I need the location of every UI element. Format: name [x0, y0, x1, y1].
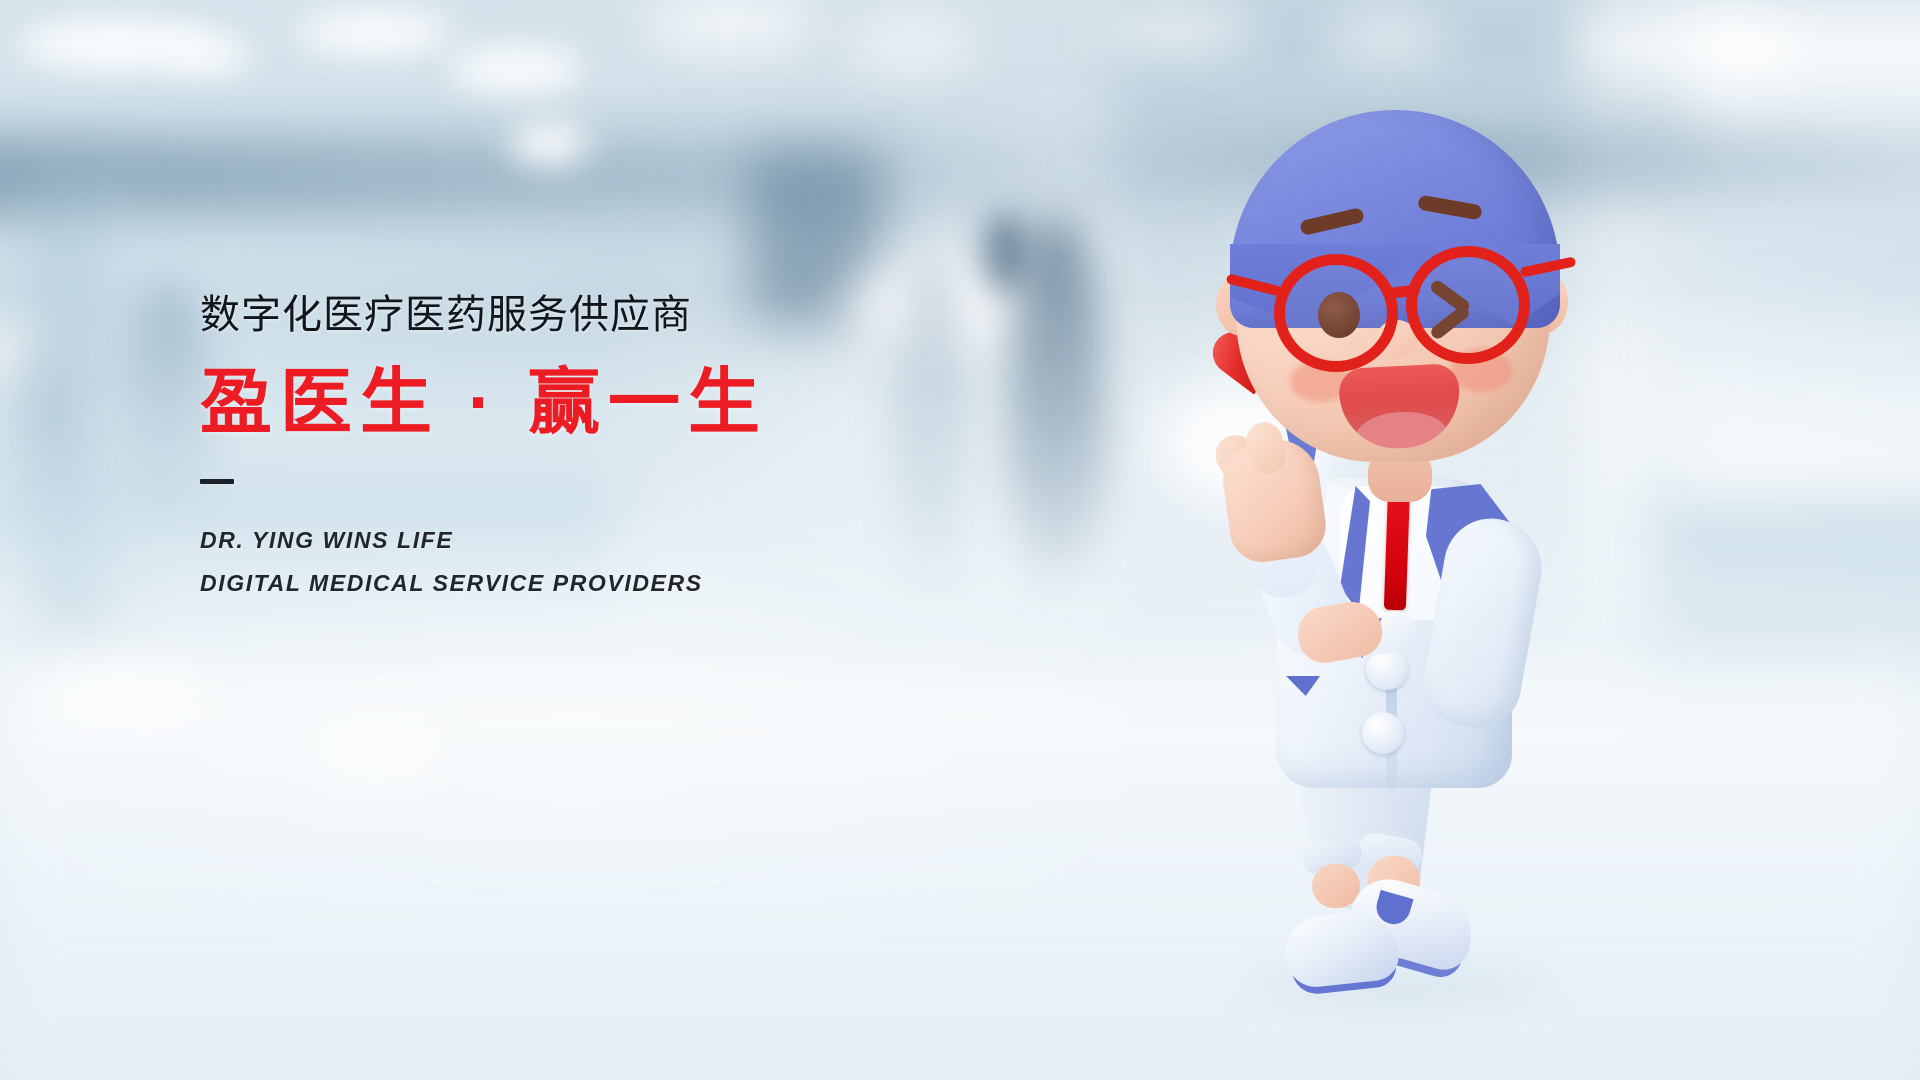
background-window-shelf — [1690, 11, 1920, 508]
title-divider-rule — [200, 479, 234, 484]
ceiling-light-bokeh — [298, 13, 452, 52]
background-person-silhouette — [125, 281, 211, 519]
ceiling-light-bokeh — [451, 49, 582, 90]
mascot-coat-button-bottom — [1362, 712, 1404, 754]
ceiling-light-bokeh — [307, 734, 441, 777]
banner-copy-block: 数字化医疗医药服务供应商 盈医生 · 赢一生 DR. YING WINS LIF… — [200, 292, 960, 603]
background-person-silhouette — [10, 324, 75, 518]
glasses-lens-left — [1274, 254, 1398, 372]
glasses-lens-right — [1406, 246, 1530, 364]
background-person-head — [983, 211, 1027, 292]
mascot-mouth — [1338, 363, 1462, 451]
ceiling-light-bokeh — [845, 27, 979, 62]
background-floor — [0, 670, 1920, 1080]
mascot-tongue — [1354, 410, 1448, 451]
ceiling-light-bokeh — [643, 0, 816, 48]
banner-english-copy: DR. YING WINS LIFE DIGITAL MEDICAL SERVI… — [200, 522, 960, 603]
doctor-mascot-illustration — [1190, 48, 1610, 1048]
ceiling-light-bokeh — [1094, 11, 1257, 48]
ceiling-light-bokeh — [38, 670, 211, 724]
banner-headline: 盈医生 · 赢一生 — [200, 364, 960, 443]
english-tagline-primary: DR. YING WINS LIFE — [200, 522, 960, 559]
banner-stage: 数字化医疗医药服务供应商 盈医生 · 赢一生 DR. YING WINS LIF… — [0, 0, 1920, 1080]
ceiling-light-bokeh — [509, 124, 590, 163]
banner-subtitle: 数字化医疗医药服务供应商 — [200, 292, 960, 338]
mascot-red-tie — [1384, 484, 1410, 611]
ceiling-light-bokeh — [163, 37, 249, 72]
english-tagline-secondary: DIGITAL MEDICAL SERVICE PROVIDERS — [200, 565, 960, 602]
